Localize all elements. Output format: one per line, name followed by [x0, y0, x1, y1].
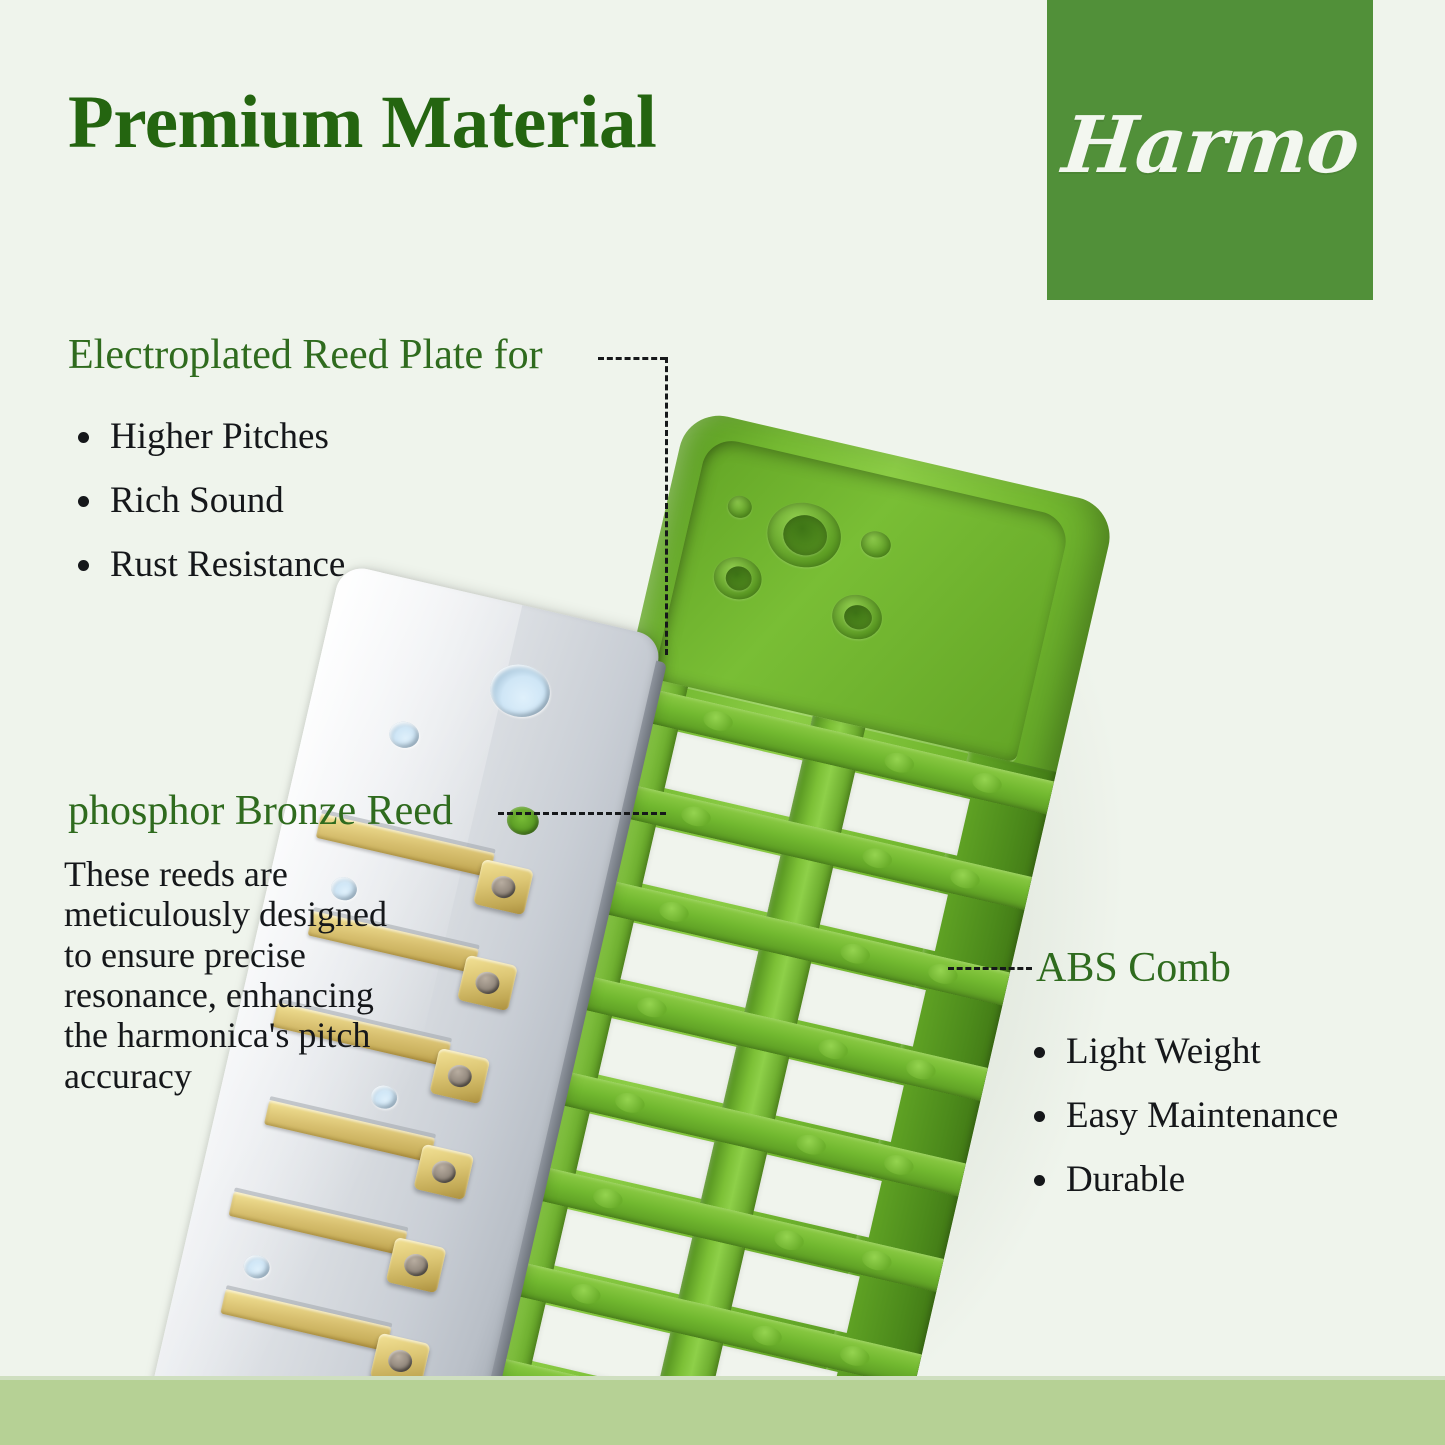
reed-rivet-pad	[457, 955, 518, 1012]
comb-rung-pip	[569, 1281, 603, 1306]
plate-hole-small	[387, 719, 422, 751]
plate-hole-large	[485, 659, 555, 723]
brass-reed-tongue	[228, 1191, 407, 1255]
plate-hole-open	[504, 803, 541, 837]
reed-plate-bullet-label: Rich Sound	[110, 480, 284, 521]
comb-rung-pip	[701, 708, 735, 733]
comb-rung-pip	[926, 961, 960, 986]
comb-rung-pip	[883, 750, 917, 775]
brand-logo: Harmo	[1047, 0, 1373, 300]
bullet-dot-icon	[78, 432, 89, 443]
brass-reed-tongue	[264, 1100, 435, 1163]
reed-plate-bullet-label: Rust Resistance	[110, 544, 345, 585]
reed-rivet	[402, 1252, 430, 1279]
comb-rung-pip	[970, 770, 1004, 795]
abs-comb-bullet-item: Easy Maintenance	[1028, 1097, 1338, 1134]
reed-rivet-pad	[386, 1237, 447, 1294]
leader-line-abs-comb	[948, 967, 1032, 970]
abs-comb-bullet-label: Light Weight	[1066, 1031, 1261, 1072]
comb-rung-pip	[860, 1248, 894, 1273]
comb-rung-pip	[772, 1228, 806, 1253]
reed-rivet-pad	[473, 859, 534, 916]
reed-plate-bullet-item: Rich Sound	[72, 482, 345, 519]
reed-rivet	[386, 1348, 414, 1375]
comb-rung-pip	[861, 846, 895, 871]
reed-rivet	[430, 1159, 458, 1186]
comb-rung-pip	[904, 1057, 938, 1082]
comb-rung-pip	[657, 899, 691, 924]
reed-rivet	[489, 874, 517, 901]
heading-electroplated-reed-plate: Electroplated Reed Plate for	[68, 331, 543, 379]
bullet-dot-icon	[78, 560, 89, 571]
bottom-band	[0, 1380, 1445, 1445]
brass-reed-tongue	[220, 1289, 391, 1352]
comb-rung-pip	[613, 1090, 647, 1115]
bullet-dot-icon	[1034, 1111, 1045, 1122]
comb-rung-pip	[882, 1152, 916, 1177]
infographic-canvas: Harmo Premium Material Electroplated Ree…	[0, 0, 1445, 1445]
plate-screw-hole	[241, 1253, 272, 1281]
comb-rung-pip	[635, 995, 669, 1020]
abs-comb-bullet-label: Easy Maintenance	[1066, 1095, 1338, 1136]
bullet-list-abs-comb: Light WeightEasy MaintenanceDurable	[1028, 1033, 1338, 1198]
reed-rivet-pad	[429, 1048, 490, 1105]
comb-rung-pip	[838, 1343, 872, 1368]
heading-phosphor-bronze-reed: phosphor Bronze Reed	[68, 787, 453, 835]
bullet-list-reed-plate: Higher PitchesRich SoundRust Resistance	[72, 418, 345, 583]
paragraph-bronze-reed: These reeds are meticulously designed to…	[64, 854, 394, 1096]
heading-abs-comb: ABS Comb	[1036, 944, 1231, 992]
reed-plate-bullet-item: Rust Resistance	[72, 546, 345, 583]
comb-rung-pip	[750, 1323, 784, 1348]
bullet-dot-icon	[1034, 1047, 1045, 1058]
leader-line-bronze-reed	[498, 812, 666, 815]
comb-rung-pip	[679, 804, 713, 829]
reed-rivet	[473, 969, 501, 996]
comb-rung-pip	[948, 866, 982, 891]
comb-rung-pip	[591, 1186, 625, 1211]
reed-plate-bullet-item: Higher Pitches	[72, 418, 345, 455]
reed-rivet	[446, 1063, 474, 1090]
comb-rung-pip	[816, 1037, 850, 1062]
abs-comb-bullet-item: Durable	[1028, 1161, 1338, 1198]
leader-line-reed-plate-horizontal	[598, 357, 666, 360]
abs-comb-bullet-item: Light Weight	[1028, 1033, 1338, 1070]
bullet-dot-icon	[78, 496, 89, 507]
abs-comb-bullet-label: Durable	[1066, 1159, 1185, 1200]
reed-plate-bullet-label: Higher Pitches	[110, 416, 329, 457]
comb-rung-pip	[794, 1132, 828, 1157]
leader-line-reed-plate-vertical	[665, 357, 668, 655]
reed-rivet-pad	[413, 1144, 474, 1201]
comb-rung-pip	[838, 941, 872, 966]
page-title: Premium Material	[68, 80, 656, 166]
bullet-dot-icon	[1034, 1175, 1045, 1186]
brand-logo-text: Harmo	[1057, 100, 1362, 197]
